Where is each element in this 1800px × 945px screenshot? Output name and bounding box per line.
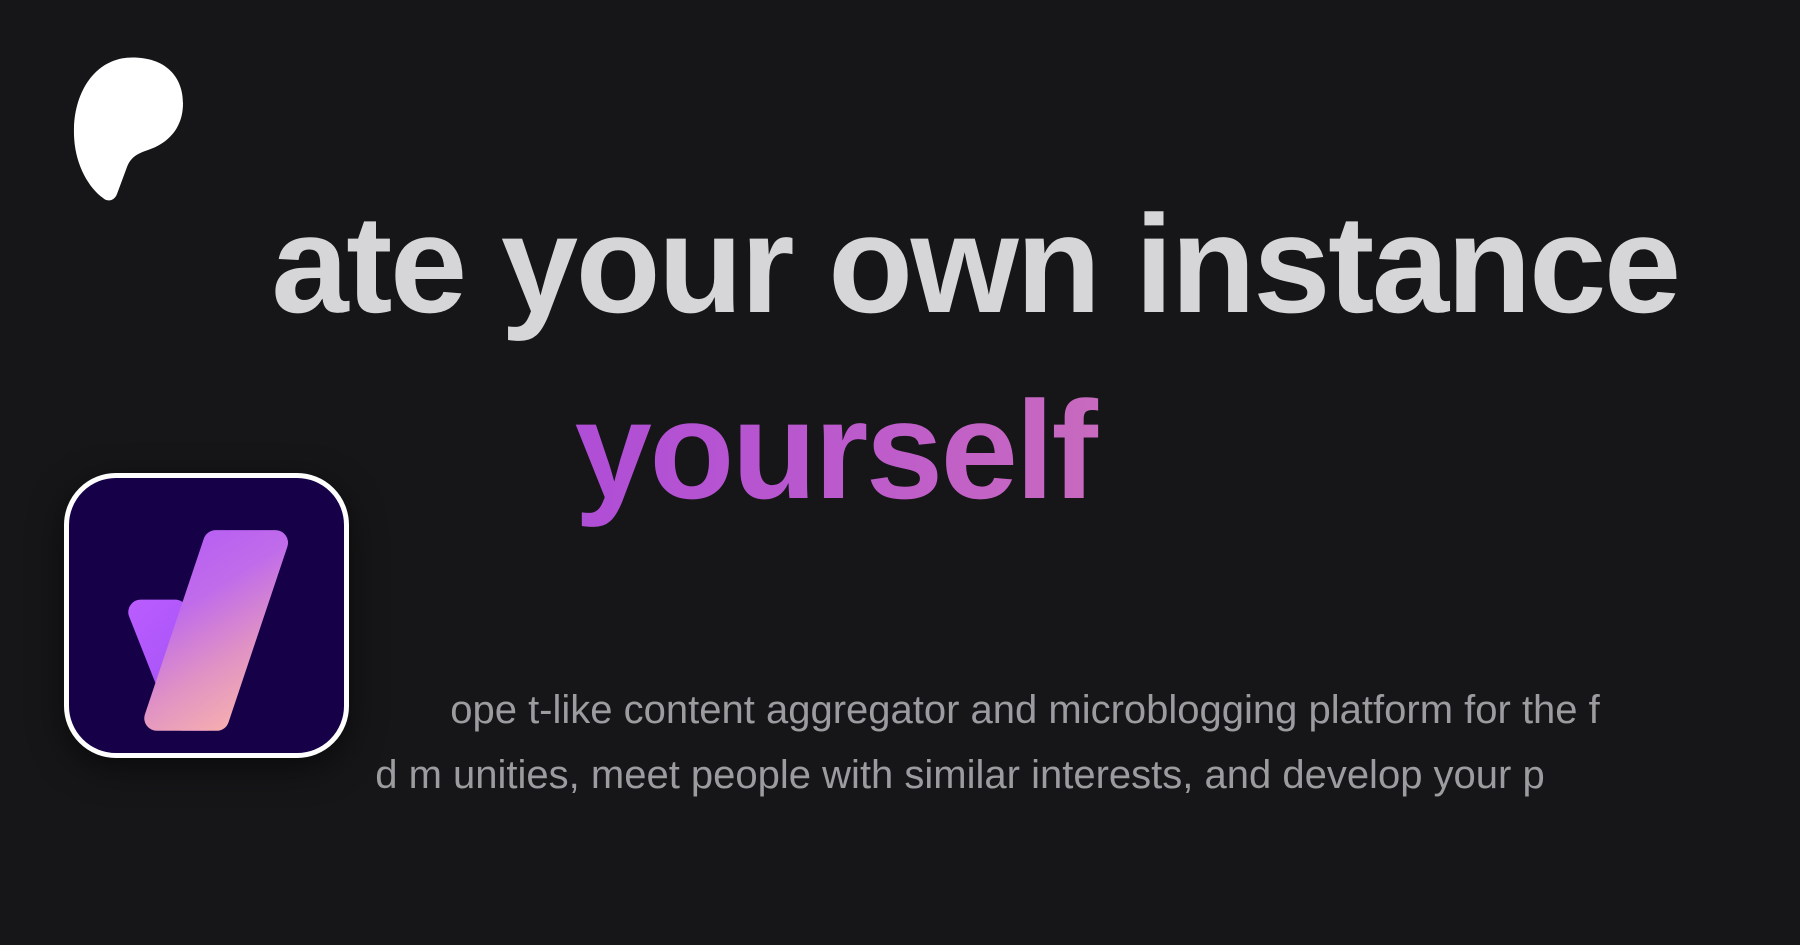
vikunja-v-app-icon[interactable] [64,473,349,758]
page-title-line-1: ate your own instance [150,176,1800,354]
page-description-line-1: ope t-like content aggregator and microb… [250,678,1800,743]
page-description-line-2: d m unities, meet people with similar in… [120,743,1800,808]
page-root: ate your own instance yourself ope t-lik… [0,0,1800,945]
